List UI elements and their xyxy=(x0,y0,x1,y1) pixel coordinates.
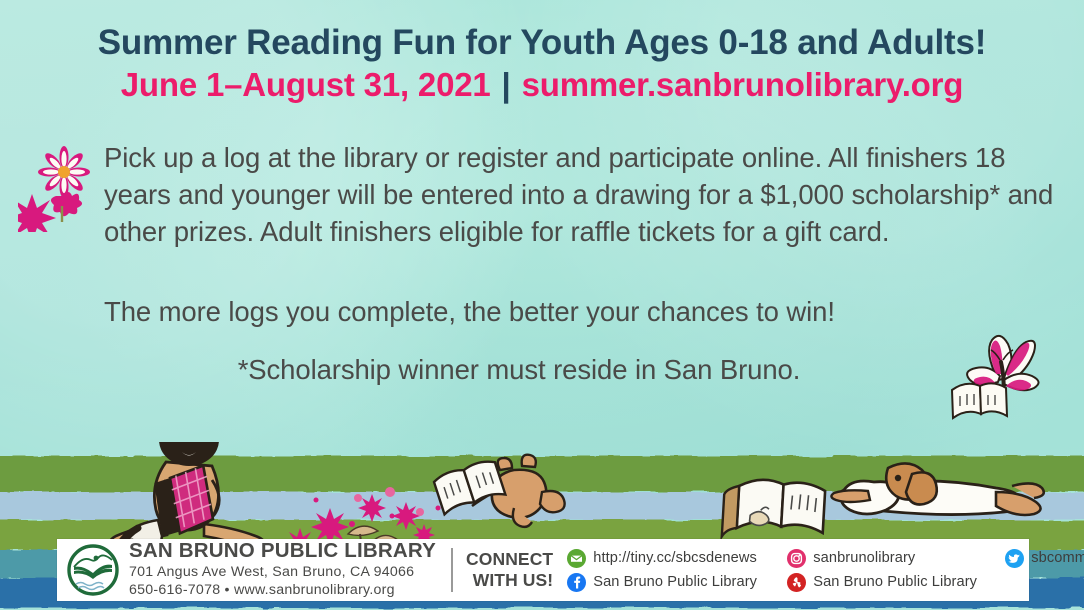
twitter-icon xyxy=(1005,549,1024,568)
dates-and-url: June 1–August 31, 2021|summer.sanbrunoli… xyxy=(0,67,1084,103)
social-link-facebook[interactable]: San Bruno Public Library xyxy=(567,573,787,592)
library-info: SAN BRUNO PUBLIC LIBRARY 701 Angus Ave W… xyxy=(129,540,436,599)
email-icon xyxy=(567,549,586,568)
social-link-yelp[interactable]: San Bruno Public Library xyxy=(787,573,1005,592)
summer-reading-poster: Summer Reading Fun for Youth Ages 0-18 a… xyxy=(0,0,1084,610)
social-label-twitter: sbcommunity xyxy=(1031,550,1084,566)
body-paragraph-1: Pick up a log at the library or register… xyxy=(104,140,1054,251)
headline-separator: | xyxy=(491,66,522,103)
body-paragraph-2: The more logs you complete, the better y… xyxy=(104,294,1054,331)
facebook-icon xyxy=(567,573,586,592)
social-links: http://tiny.cc/sbcsdenews sanbrunolibrar… xyxy=(567,546,1084,594)
social-link-email[interactable]: http://tiny.cc/sbcsdenews xyxy=(567,549,787,568)
connect-with-us-label: CONNECT WITH US! xyxy=(466,549,553,590)
flowers-left-illustration xyxy=(18,146,110,232)
social-label-email: http://tiny.cc/sbcsdenews xyxy=(593,550,757,566)
connect-line-2: WITH US! xyxy=(466,570,553,591)
footer-divider xyxy=(451,548,453,592)
program-url[interactable]: summer.sanbrunolibrary.org xyxy=(522,66,964,103)
social-label-instagram: sanbrunolibrary xyxy=(813,550,915,566)
headline-block: Summer Reading Fun for Youth Ages 0-18 a… xyxy=(0,24,1084,103)
butterfly-with-book-illustration xyxy=(946,332,1056,432)
footer-bar: SAN BRUNO PUBLIC LIBRARY 701 Angus Ave W… xyxy=(57,539,1029,601)
page-title: Summer Reading Fun for Youth Ages 0-18 a… xyxy=(0,24,1084,62)
body-footnote: *Scholarship winner must reside in San B… xyxy=(104,352,934,389)
connect-line-1: CONNECT xyxy=(466,549,553,570)
library-seal-logo-icon xyxy=(66,543,120,597)
social-link-instagram[interactable]: sanbrunolibrary xyxy=(787,549,1005,568)
library-phone-web: 650-616-7078 • www.sanbrunolibrary.org xyxy=(129,581,436,599)
yelp-icon xyxy=(787,573,806,592)
library-address: 701 Angus Ave West, San Bruno, CA 94066 xyxy=(129,563,436,581)
social-link-twitter[interactable]: sbcommunity xyxy=(1005,549,1084,568)
library-name: SAN BRUNO PUBLIC LIBRARY xyxy=(129,540,436,562)
social-label-yelp: San Bruno Public Library xyxy=(813,574,977,590)
instagram-icon xyxy=(787,549,806,568)
program-dates: June 1–August 31, 2021 xyxy=(121,66,491,103)
social-label-facebook: San Bruno Public Library xyxy=(593,574,757,590)
